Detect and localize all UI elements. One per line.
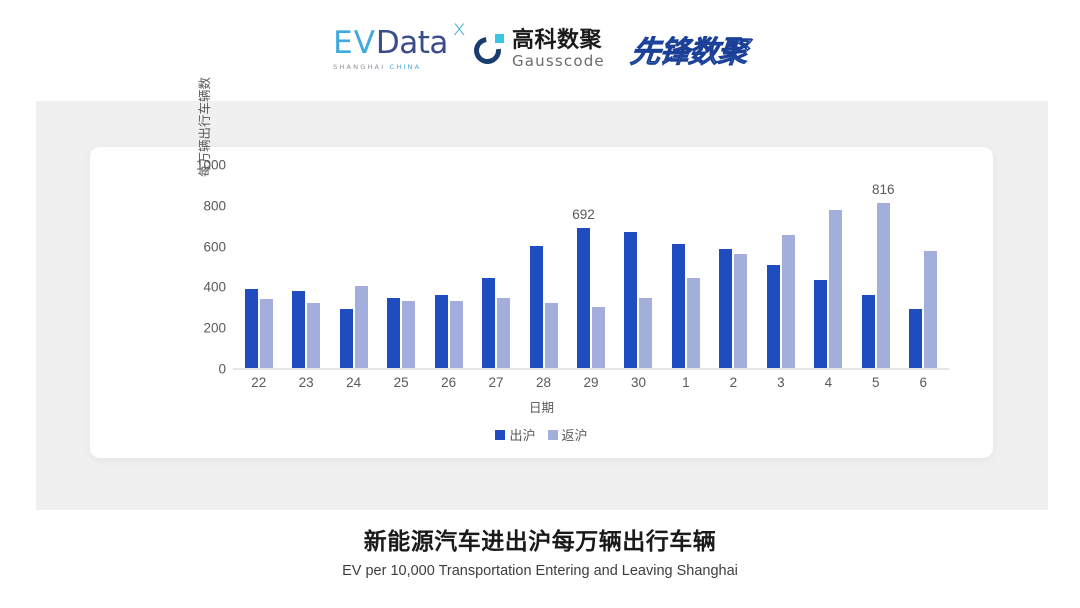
bar-group-6 <box>900 165 947 369</box>
legend-swatch-icon <box>548 430 558 440</box>
gausscode-logo: 高科数聚 Gausscode <box>474 30 605 69</box>
y-tick-400: 400 <box>186 280 226 295</box>
bar-group-1 <box>662 165 709 369</box>
bar-25-series1 <box>387 298 400 369</box>
bar-group-26 <box>425 165 472 369</box>
x-axis-baseline <box>233 368 949 370</box>
x-tick-1: 1 <box>666 375 706 390</box>
bar-group-23 <box>282 165 329 369</box>
bar-30-series2 <box>639 298 652 369</box>
bar-22-series1 <box>245 289 258 369</box>
bar-29-series1: 692 <box>577 228 590 369</box>
bar-group-4 <box>805 165 852 369</box>
gausscode-mark-icon <box>474 34 505 65</box>
bar-group-27 <box>472 165 519 369</box>
bar-group-2 <box>710 165 757 369</box>
evdata-logo: EVData x SHANGHAI CHINA <box>333 28 448 71</box>
x-tick-28: 28 <box>524 375 564 390</box>
gausscode-cn-text: 高科数聚 <box>512 30 605 52</box>
bar-24-series2 <box>355 286 368 369</box>
x-tick-5: 5 <box>856 375 896 390</box>
bar-4-series2 <box>829 210 842 369</box>
bar-3-series1 <box>767 265 780 369</box>
bar-26-series2 <box>450 301 463 369</box>
gausscode-en-text: Gausscode <box>512 54 605 69</box>
x-axis-tick-labels: 222324252627282930123456 <box>235 375 947 395</box>
y-axis-tick-labels: 02004006008001000 <box>186 165 226 370</box>
gausscode-square-icon <box>495 34 504 43</box>
bar-group-28 <box>520 165 567 369</box>
footer-title-en: EV per 10,000 Transportation Entering an… <box>0 563 1080 579</box>
bar-group-22 <box>235 165 282 369</box>
y-tick-800: 800 <box>186 198 226 213</box>
evdata-tagline-country: CHINA <box>390 63 422 71</box>
bar-5-series1 <box>862 295 875 369</box>
bar-value-label-816: 816 <box>872 182 895 197</box>
bar-group-29: 692 <box>567 165 614 369</box>
plot-area: 692816 <box>235 165 947 369</box>
bar-6-series1 <box>909 309 922 369</box>
bar-29-series2 <box>592 307 605 369</box>
x-tick-23: 23 <box>286 375 326 390</box>
x-tick-24: 24 <box>334 375 374 390</box>
legend-item-返沪[interactable]: 返沪 <box>548 425 588 444</box>
bar-4-series1 <box>814 280 827 369</box>
bar-group-25 <box>377 165 424 369</box>
bar-27-series2 <box>497 298 510 369</box>
evdata-data-text: Data <box>376 28 448 59</box>
bar-28-series1 <box>530 246 543 369</box>
pioneer-logo: 先锋数聚 <box>629 27 750 71</box>
x-tick-29: 29 <box>571 375 611 390</box>
x-axis-title: 日期 <box>90 397 993 416</box>
y-tick-600: 600 <box>186 239 226 254</box>
bar-22-series2 <box>260 299 273 369</box>
footer: 新能源汽车进出沪每万辆出行车辆 EV per 10,000 Transporta… <box>0 528 1080 579</box>
legend-item-出沪[interactable]: 出沪 <box>495 425 535 444</box>
x-tick-6: 6 <box>903 375 943 390</box>
bar-1-series2 <box>687 278 700 369</box>
y-tick-1000: 1000 <box>186 158 226 173</box>
legend-label: 出沪 <box>509 425 535 444</box>
bar-value-label-692: 692 <box>572 207 595 222</box>
footer-title-cn: 新能源汽车进出沪每万辆出行车辆 <box>0 528 1080 557</box>
chart-card: 每万辆出行车辆数 02004006008001000 692816 222324… <box>90 147 993 458</box>
x-tick-22: 22 <box>239 375 279 390</box>
legend-swatch-icon <box>495 430 505 440</box>
y-tick-0: 0 <box>186 362 226 377</box>
bar-30-series1 <box>624 232 637 369</box>
bar-28-series2 <box>545 303 558 370</box>
evdata-tagline: SHANGHAI CHINA <box>333 63 421 71</box>
evdata-wordmark: EVData x <box>333 28 448 59</box>
logo-bar: EVData x SHANGHAI CHINA 高科数聚 Gausscode 先… <box>0 18 1080 80</box>
bar-group-30 <box>615 165 662 369</box>
bar-26-series1 <box>435 295 448 369</box>
bar-chart: 每万辆出行车辆数 02004006008001000 692816 222324… <box>90 147 993 458</box>
bar-25-series2 <box>402 301 415 369</box>
x-tick-2: 2 <box>713 375 753 390</box>
x-tick-3: 3 <box>761 375 801 390</box>
x-tick-27: 27 <box>476 375 516 390</box>
bar-2-series2 <box>734 254 747 369</box>
bar-group-5: 816 <box>852 165 899 369</box>
gausscode-wordmark: 高科数聚 Gausscode <box>512 30 605 69</box>
evdata-tagline-city: SHANGHAI <box>333 63 389 71</box>
chart-legend: 出沪返沪 <box>90 425 993 444</box>
y-tick-200: 200 <box>186 321 226 336</box>
bar-24-series1 <box>340 309 353 369</box>
bar-23-series1 <box>292 291 305 369</box>
bar-3-series2 <box>782 235 795 369</box>
bar-group-3 <box>757 165 804 369</box>
bar-1-series1 <box>672 244 685 369</box>
bar-group-24 <box>330 165 377 369</box>
x-tick-26: 26 <box>429 375 469 390</box>
x-tick-4: 4 <box>808 375 848 390</box>
evdata-ev-text: EV <box>333 28 376 59</box>
bar-23-series2 <box>307 303 320 370</box>
bar-5-series2: 816 <box>877 203 890 369</box>
screenshot-root: EVData x SHANGHAI CHINA 高科数聚 Gausscode 先… <box>0 0 1080 608</box>
bar-2-series1 <box>719 249 732 369</box>
bar-27-series1 <box>482 278 495 369</box>
legend-label: 返沪 <box>562 425 588 444</box>
bar-6-series2 <box>924 251 937 369</box>
x-tick-25: 25 <box>381 375 421 390</box>
evdata-x-icon: x <box>453 18 466 39</box>
x-tick-30: 30 <box>618 375 658 390</box>
